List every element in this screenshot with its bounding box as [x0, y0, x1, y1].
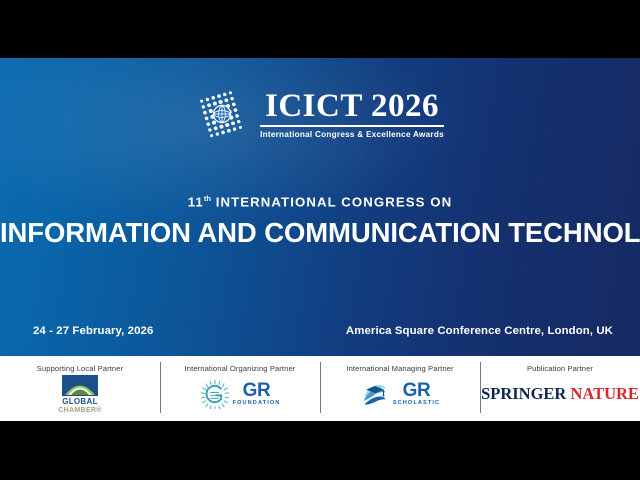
icict-diamond-globe-logo-icon	[196, 88, 248, 140]
conference-dates: 24 - 27 February, 2026	[33, 325, 153, 337]
conference-banner: ICICT 2026 International Congress & Exce…	[0, 58, 640, 356]
letterbox-bar-top	[0, 0, 640, 58]
partner-international-managing: International Managing Partner GR SCHOLA…	[320, 356, 480, 421]
letterbox-bar-bottom	[0, 421, 640, 480]
gr-foundation-subname: FOUNDATION	[233, 401, 281, 407]
subtitle-number: 11	[188, 194, 204, 209]
springer-nature-logo-icon: SPRINGER NATURE	[481, 376, 639, 412]
springer-word: SPRINGER	[481, 384, 566, 403]
icict-logo-lockup: ICICT 2026 International Congress & Exce…	[0, 88, 640, 140]
icict-tagline: International Congress & Excellence Awar…	[260, 130, 444, 139]
subtitle-ordinal: th	[204, 194, 211, 203]
conference-venue: America Square Conference Centre, London…	[346, 325, 613, 337]
partner-label: Publication Partner	[527, 364, 593, 373]
gr-foundation-logo-icon: GR FOUNDATION	[200, 376, 281, 412]
partner-bar: Supporting Local Partner GLOBAL CHAMBER®	[0, 356, 640, 421]
gr-scholastic-subname: SCHOLASTIC	[393, 401, 440, 407]
global-chamber-logo-icon: GLOBAL CHAMBER®	[58, 376, 101, 412]
gr-foundation-name: GR	[243, 381, 271, 400]
page-title: INFORMATION AND COMMUNICATION TECHNOLOGY	[0, 217, 640, 249]
subtitle-rest: INTERNATIONAL CONGRESS ON	[211, 194, 452, 209]
logo-divider-rule	[260, 125, 444, 127]
partner-label: International Organizing Partner	[185, 364, 296, 373]
gr-scholastic-name: GR	[403, 381, 431, 400]
partner-publication: Publication Partner SPRINGER NATURE	[480, 356, 640, 421]
nature-word: NATURE	[570, 384, 638, 403]
global-chamber-name: GLOBAL	[62, 398, 98, 406]
partner-label: International Managing Partner	[346, 364, 453, 373]
icict-wordmark: ICICT 2026	[265, 89, 439, 123]
partner-label: Supporting Local Partner	[37, 364, 123, 373]
gr-scholastic-logo-icon: GR SCHOLASTIC	[360, 376, 440, 412]
partner-international-organizing: International Organizing Partner	[160, 356, 320, 421]
global-chamber-subname: CHAMBER®	[58, 407, 101, 414]
congress-subtitle: 11th INTERNATIONAL CONGRESS ON	[0, 194, 640, 209]
partner-supporting-local: Supporting Local Partner GLOBAL CHAMBER®	[0, 356, 160, 421]
video-frame: ICICT 2026 International Congress & Exce…	[0, 0, 640, 480]
